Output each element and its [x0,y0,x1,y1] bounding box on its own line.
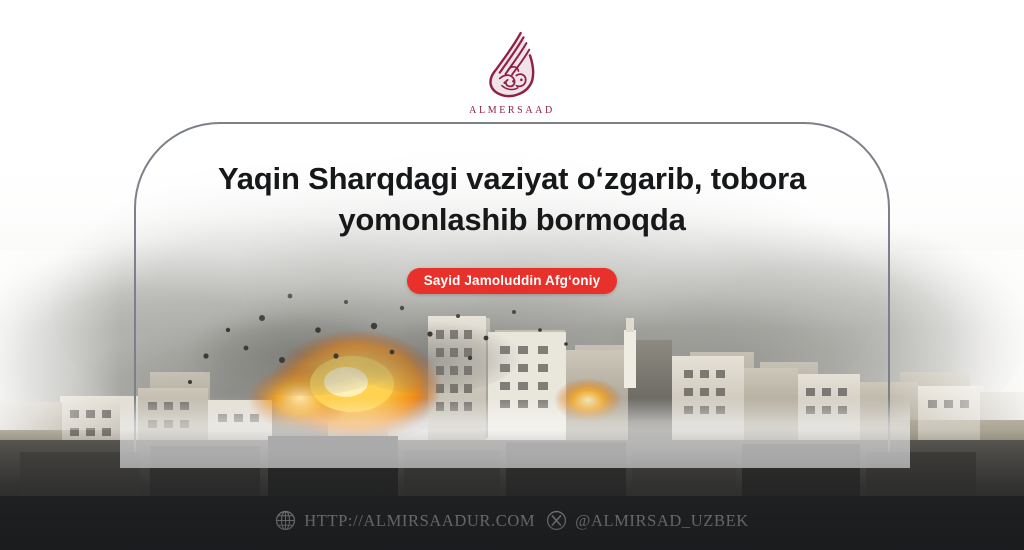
almersaad-arabic-calligraphy-logo [476,28,548,100]
x-twitter-icon [546,510,567,531]
footer-bar: HTTP://ALMIRSAADUR.COM @ALMIRSAD_UZBEK [0,510,1024,531]
social-link[interactable]: @ALMIRSAD_UZBEK [546,510,749,531]
author-badge: Sayid Jamoluddin Afgʻoniy [407,268,618,294]
author-badge-row: Sayid Jamoluddin Afgʻoniy [0,268,1024,294]
social-handle: @ALMIRSAD_UZBEK [575,511,749,531]
brand-logo[interactable]: ALMERSAAD [0,28,1024,116]
foreground-rooftops [0,436,1024,550]
globe-icon [275,510,296,531]
page-title: Yaqin Sharqdagi vaziyat oʻzgarib, tobora… [150,158,874,240]
news-card: ALMERSAAD Yaqin Sharqdagi vaziyat oʻzgar… [0,0,1024,550]
website-url: HTTP://ALMIRSAADUR.COM [304,511,535,531]
website-link[interactable]: HTTP://ALMIRSAADUR.COM [275,510,535,531]
brand-wordmark: ALMERSAAD [469,105,555,116]
